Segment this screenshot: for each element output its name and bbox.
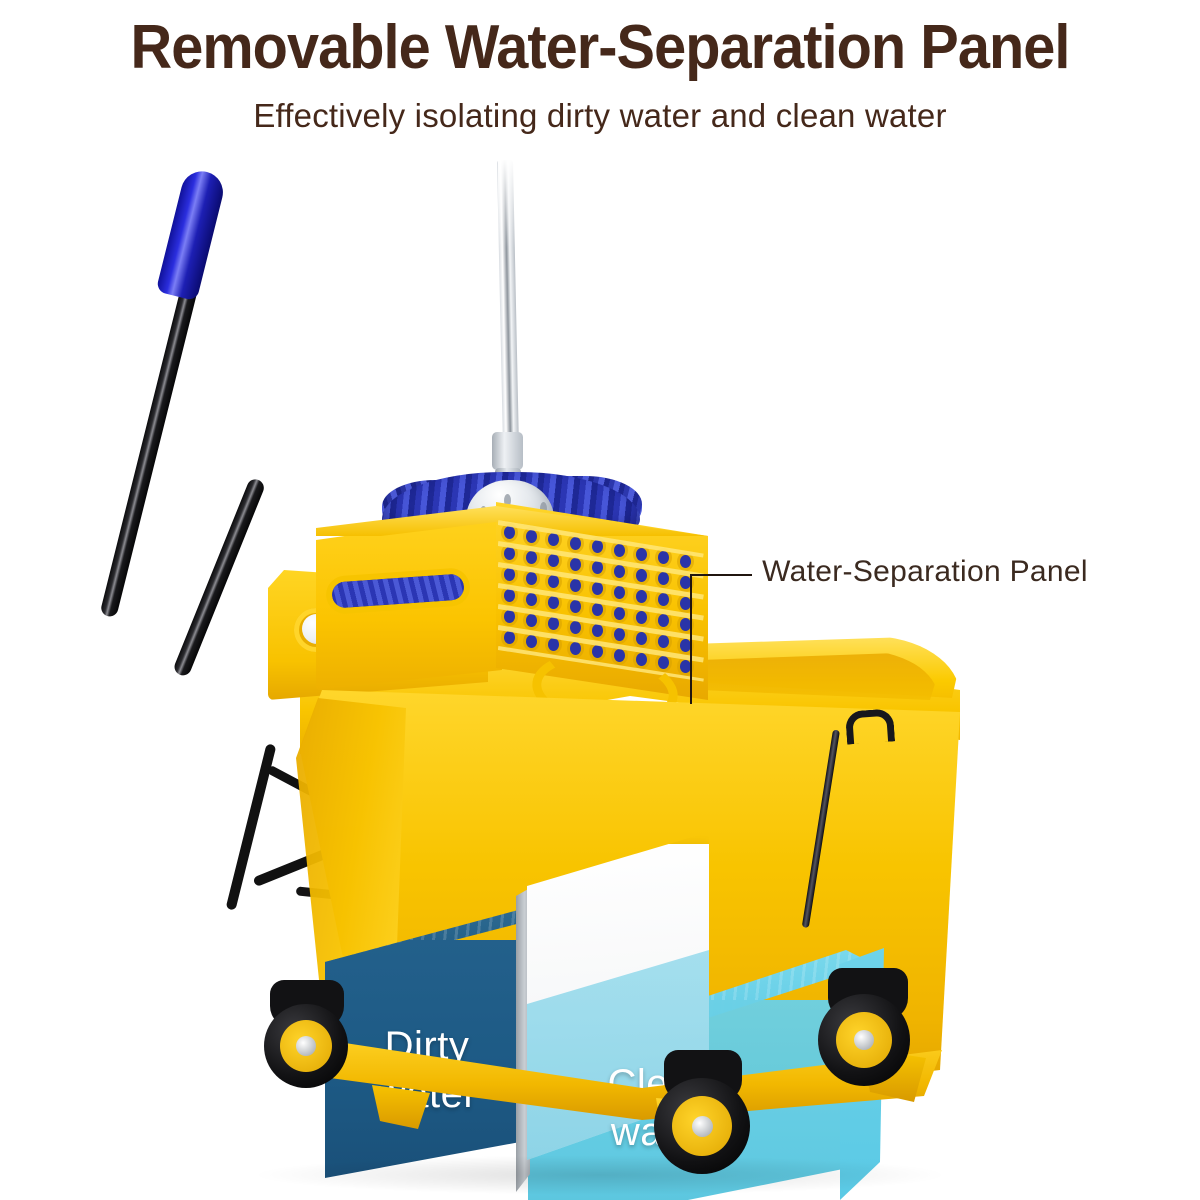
infographic-canvas: Removable Water-Separation Panel Effecti… [0,0,1200,1200]
annotation-label: Water-Separation Panel [760,552,1090,592]
product-illustration: Dirty water Clean water [0,150,1200,1200]
page-subtitle: Effectively isolating dirty water and cl… [0,96,1200,136]
ground-shadow [250,1155,950,1195]
page-title: Removable Water-Separation Panel [42,14,1158,82]
annotation-leader-vertical [690,574,692,704]
annotation-leader-horizontal [690,574,752,576]
